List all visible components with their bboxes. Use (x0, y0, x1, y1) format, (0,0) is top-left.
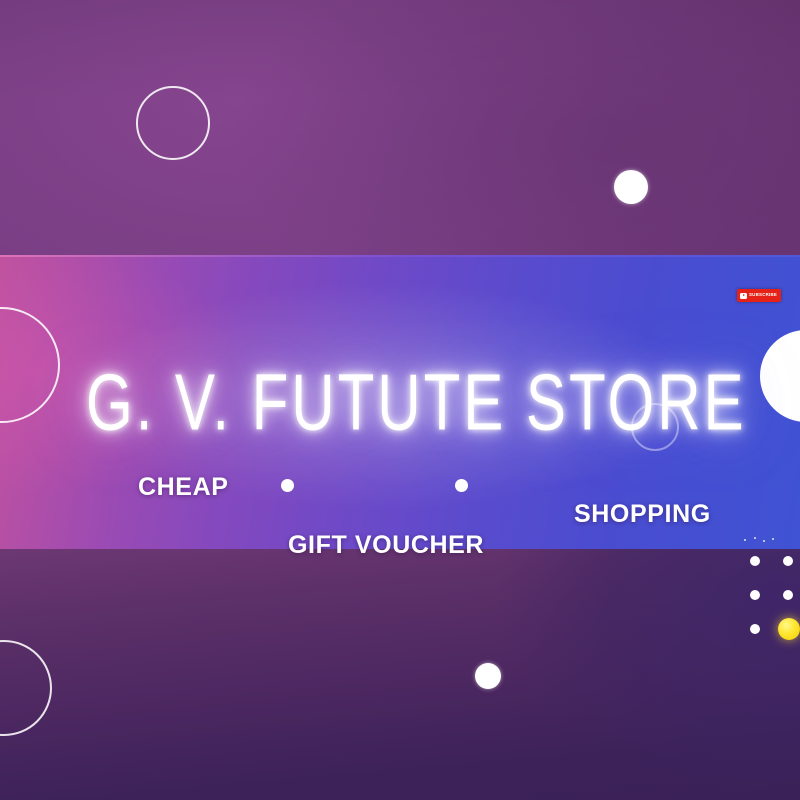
banner-top-edge (0, 255, 800, 257)
subscribe-button[interactable]: SUBSCRIBE (737, 289, 781, 302)
background-lower-right-glow (380, 548, 800, 800)
ring-banner-left-icon (0, 307, 60, 423)
ring-top-left-icon (136, 86, 210, 160)
dot-grid-icon (783, 556, 793, 566)
subtitle-shopping: SHOPPING (574, 500, 711, 529)
subscribe-button-label: SUBSCRIBE (749, 293, 777, 297)
yellow-dot-icon (778, 618, 800, 640)
bullet-right-icon (455, 479, 468, 492)
bullet-left-icon (281, 479, 294, 492)
subtitle-gift-voucher: GIFT VOUCHER (288, 531, 484, 560)
circle-banner-right-icon (760, 330, 800, 422)
banner-canvas: SUBSCRIBE G. V. FUTUTE STORE CHEAP GIFT … (0, 0, 800, 800)
subtitle-cheap: CHEAP (138, 473, 229, 502)
background-top-vignette (0, 0, 800, 258)
dot-grid-icon (750, 556, 760, 566)
subscribe-sparkles-icon (736, 537, 784, 549)
dot-grid-icon (750, 624, 760, 634)
dot-bottom-center-icon (475, 663, 501, 689)
dot-grid-icon (783, 590, 793, 600)
dot-top-right-icon (614, 170, 648, 204)
youtube-play-icon (740, 293, 747, 299)
dot-grid-icon (750, 590, 760, 600)
page-title: G. V. FUTUTE STORE (86, 358, 697, 450)
